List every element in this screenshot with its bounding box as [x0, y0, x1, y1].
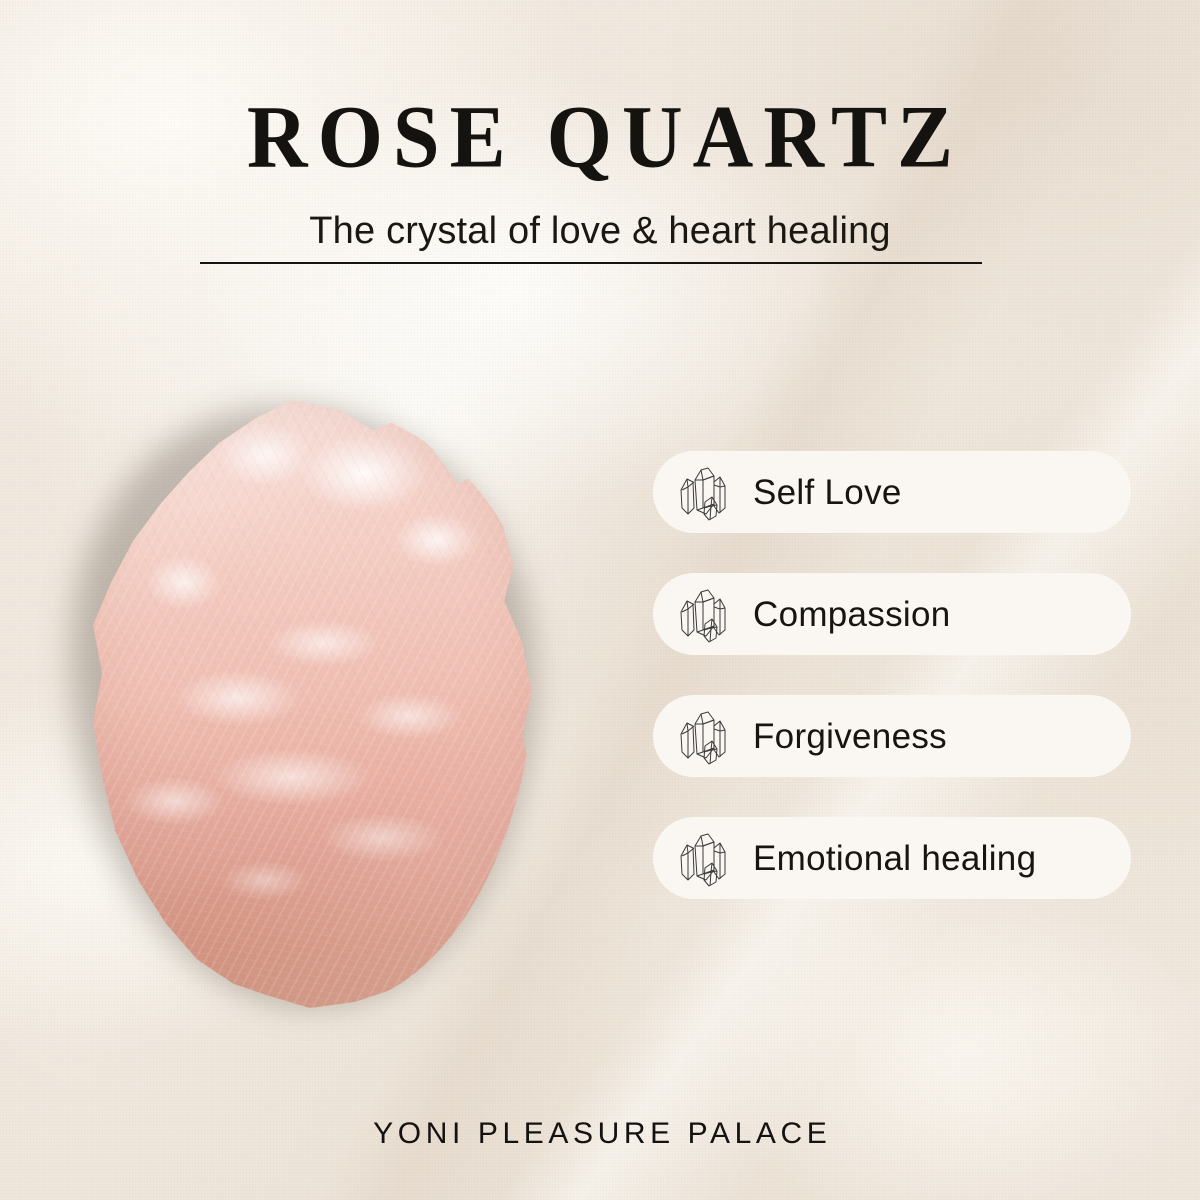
benefit-pill-compassion[interactable]: Compassion — [653, 573, 1131, 655]
benefit-label: Forgiveness — [753, 719, 947, 754]
page-title: ROSE QUARTZ — [0, 0, 1200, 182]
crystal-cluster-icon — [675, 462, 731, 522]
header-divider-rule — [200, 262, 982, 264]
header: ROSE QUARTZ The crystal of love & heart … — [0, 0, 1200, 250]
benefit-label: Compassion — [753, 597, 951, 632]
benefit-pill-self-love[interactable]: Self Love — [653, 451, 1131, 533]
benefit-pill-forgiveness[interactable]: Forgiveness — [653, 695, 1131, 777]
benefit-label: Self Love — [753, 475, 902, 510]
rose-quartz-photo — [68, 392, 548, 1022]
brand-footer: YONI PLEASURE PALACE — [0, 1117, 1200, 1151]
benefit-pill-emotional-healing[interactable]: Emotional healing — [653, 817, 1131, 899]
crystal-cluster-icon — [675, 828, 731, 888]
crystal-cluster-icon — [675, 706, 731, 766]
crystal-cluster-icon — [675, 584, 731, 644]
benefits-list: Self Love Compassion — [653, 451, 1131, 899]
benefit-label: Emotional healing — [753, 841, 1036, 876]
poster-canvas: ROSE QUARTZ The crystal of love & heart … — [0, 0, 1200, 1200]
